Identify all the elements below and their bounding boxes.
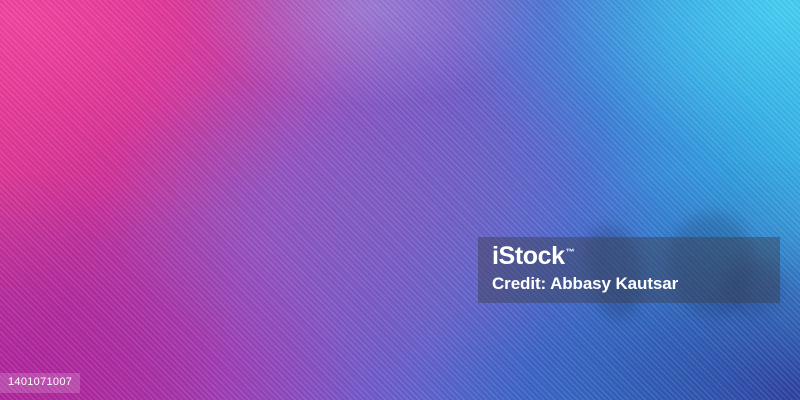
istock-logo-text: iStock™	[492, 242, 780, 270]
gradient-top-mid-lavender	[0, 0, 800, 400]
diagonal-stripe-texture-soft	[0, 0, 800, 400]
gradient-bottom-left-magenta	[0, 0, 800, 400]
gradient-bottom-right-blue	[0, 0, 800, 400]
gradient-center-purple	[0, 0, 800, 400]
diagonal-stripe-texture	[0, 0, 800, 400]
gradient-top-right-cyan	[0, 0, 800, 400]
stock-photo-image: iStock™ Credit: Abbasy Kautsar 140107100…	[0, 0, 800, 400]
gradient-base-layer	[0, 0, 800, 400]
watermark-credit-line: Credit: Abbasy Kautsar	[492, 273, 780, 295]
gradient-top-left-pink	[0, 0, 800, 400]
asset-id-badge: 1401071007	[0, 373, 80, 393]
istock-logo-label: iStock	[492, 242, 565, 270]
istock-watermark-overlay: iStock™ Credit: Abbasy Kautsar	[478, 237, 780, 303]
trademark-icon: ™	[566, 247, 575, 257]
